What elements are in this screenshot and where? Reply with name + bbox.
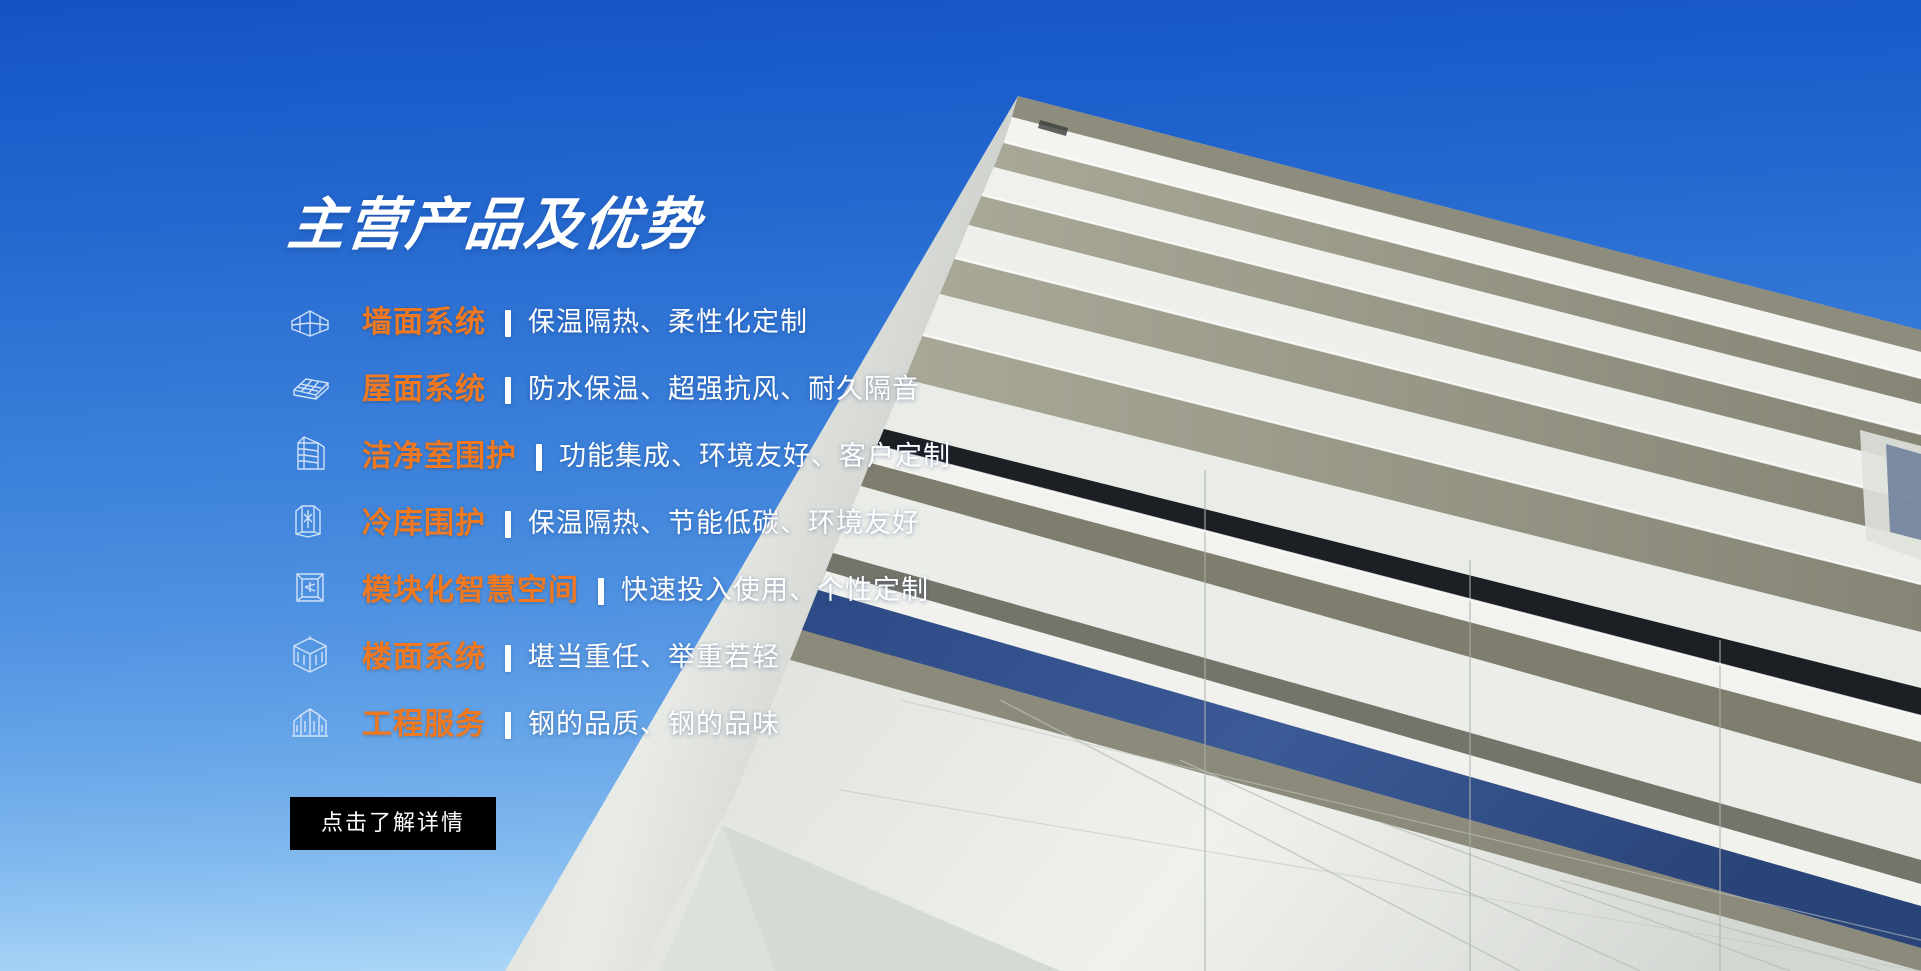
product-name: 模块化智慧空间 [362,565,579,609]
product-name: 墙面系统 [362,297,486,341]
list-item[interactable]: 屋面系统 防水保温、超强抗风、耐久隔音 [288,353,1188,420]
product-features: 保温隔热、节能低碳、环境友好 [528,501,920,540]
banner-content: 主营产品及优势 墙面系统 保温隔热、柔性化定制 [288,196,1188,850]
separator-bar [505,377,511,404]
cold-storage-icon [288,498,332,542]
roof-panel-icon [288,364,332,408]
list-item[interactable]: 楼面系统 堪当重任、举重若轻 [288,621,1188,688]
separator-bar [505,511,511,538]
wall-panel-icon [288,297,332,341]
product-features: 快速投入使用、个性定制 [621,568,929,607]
product-name: 楼面系统 [362,632,486,676]
separator-bar [536,444,542,471]
product-name: 屋面系统 [362,364,486,408]
product-name: 冷库围护 [362,498,486,542]
list-item[interactable]: 洁净室围护 功能集成、环境友好、客户定制 [288,420,1188,487]
list-item[interactable]: 工程服务 钢的品质、钢的品味 [288,688,1188,755]
learn-more-button[interactable]: 点击了解详情 [290,797,496,850]
hero-banner: 主营产品及优势 墙面系统 保温隔热、柔性化定制 [0,0,1921,971]
product-features: 保温隔热、柔性化定制 [528,300,808,339]
separator-bar [505,712,511,739]
engineering-service-icon [288,699,332,743]
list-item[interactable]: 墙面系统 保温隔热、柔性化定制 [288,286,1188,353]
product-list: 墙面系统 保温隔热、柔性化定制 屋面系统 [288,286,1188,755]
floor-system-icon [288,632,332,676]
page-title: 主营产品及优势 [285,196,1191,256]
list-item[interactable]: 冷库围护 保温隔热、节能低碳、环境友好 [288,487,1188,554]
list-item[interactable]: 模块化智慧空间 快速投入使用、个性定制 [288,554,1188,621]
modular-space-icon [288,565,332,609]
separator-bar [505,645,511,672]
product-features: 钢的品质、钢的品味 [528,702,780,741]
separator-bar [505,310,511,337]
product-features: 功能集成、环境友好、客户定制 [559,434,951,473]
product-features: 堪当重任、举重若轻 [528,635,780,674]
cleanroom-icon [288,431,332,475]
product-features: 防水保温、超强抗风、耐久隔音 [528,367,920,406]
separator-bar [598,578,604,605]
product-name: 洁净室围护 [362,431,517,475]
product-name: 工程服务 [362,699,486,743]
